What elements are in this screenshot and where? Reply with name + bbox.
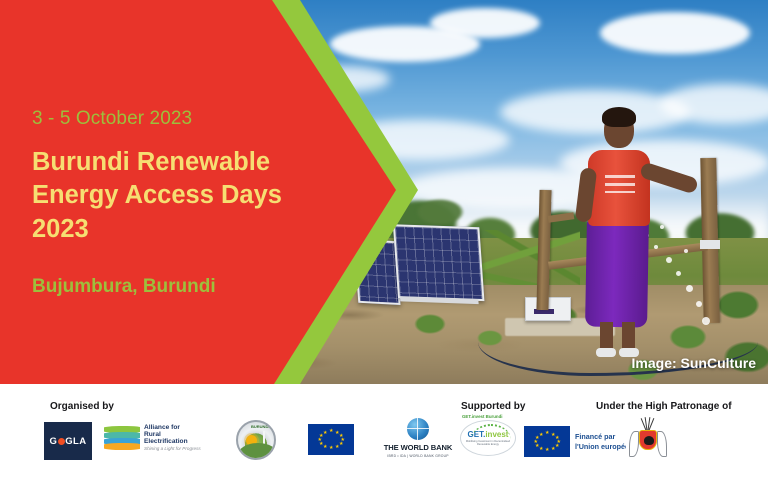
gogla-logo[interactable]: GGLA xyxy=(44,422,92,460)
financed-by-eu-logo[interactable]: ★★ ★★ ★★ ★★ ★★ ★★ Financé par l'Union eu… xyxy=(524,426,642,457)
woman-skirt xyxy=(585,218,649,327)
supported-by-label: Supported by xyxy=(461,401,525,412)
get-invest-mark: GET.invest Mobilising Investment in Dece… xyxy=(460,420,516,456)
burundi-ministry-seal-logo[interactable]: BURUNDI xyxy=(236,420,276,460)
event-title: Burundi Renewable Energy Access Days 202… xyxy=(32,146,287,246)
are-swoosh-icon xyxy=(104,425,140,451)
get-invest-wordmark: GET.invest xyxy=(468,430,509,439)
image-credit: Image: SunCulture xyxy=(632,355,756,371)
solar-panel-module xyxy=(393,224,485,301)
cloud xyxy=(500,90,690,134)
event-location: Bujumbura, Burundi xyxy=(32,276,216,298)
gogla-dot-icon xyxy=(58,438,65,445)
burundi-coat-of-arms-logo[interactable] xyxy=(626,417,670,465)
alliance-rural-electrification-logo[interactable]: Alliance for Rural Electrification Shini… xyxy=(104,424,214,452)
hill-shape xyxy=(238,443,276,458)
event-date: 3 - 5 October 2023 xyxy=(32,108,192,130)
patronage-label: Under the High Patronage of xyxy=(596,401,732,412)
tshirt-print xyxy=(605,175,635,193)
event-banner: 3 - 5 October 2023 Burundi Renewable Ene… xyxy=(0,0,768,384)
european-union-flag-logo[interactable]: ★★ ★★ ★★ ★★ ★★ ★★ xyxy=(308,424,354,455)
ministry-seal-icon: BURUNDI xyxy=(236,420,276,460)
sponsor-footer: Organised by Supported by Under the High… xyxy=(0,384,768,480)
water-spray xyxy=(640,215,730,335)
eu-flag-icon: ★★ ★★ ★★ ★★ ★★ ★★ xyxy=(308,424,354,455)
gogla-wordmark: GGLA xyxy=(49,436,86,447)
organised-by-label: Organised by xyxy=(50,401,114,412)
cloud xyxy=(430,8,540,38)
world-bank-logo[interactable]: THE WORLD BANK IBRD • IDA | WORLD BANK G… xyxy=(378,418,458,458)
cloud xyxy=(600,12,750,54)
get-invest-logo[interactable]: GET.invest Burundi GET.invest Mobilising… xyxy=(460,414,516,456)
get-invest-country-line: GET.invest Burundi xyxy=(462,414,503,419)
eu-flag-icon: ★★ ★★ ★★ ★★ ★★ ★★ xyxy=(524,426,570,457)
coat-of-arms-icon xyxy=(626,417,670,465)
world-bank-wordmark: THE WORLD BANK xyxy=(384,443,453,452)
get-invest-tagline: Mobilising Investment in Decentralised R… xyxy=(461,440,515,446)
gogla-logo-mark: GGLA xyxy=(44,422,92,460)
world-bank-group-line: IBRD • IDA | WORLD BANK GROUP xyxy=(387,454,448,458)
globe-icon xyxy=(407,418,429,440)
are-wordmark: Alliance for Rural Electrification Shini… xyxy=(144,424,201,452)
woman-hair xyxy=(602,107,636,127)
